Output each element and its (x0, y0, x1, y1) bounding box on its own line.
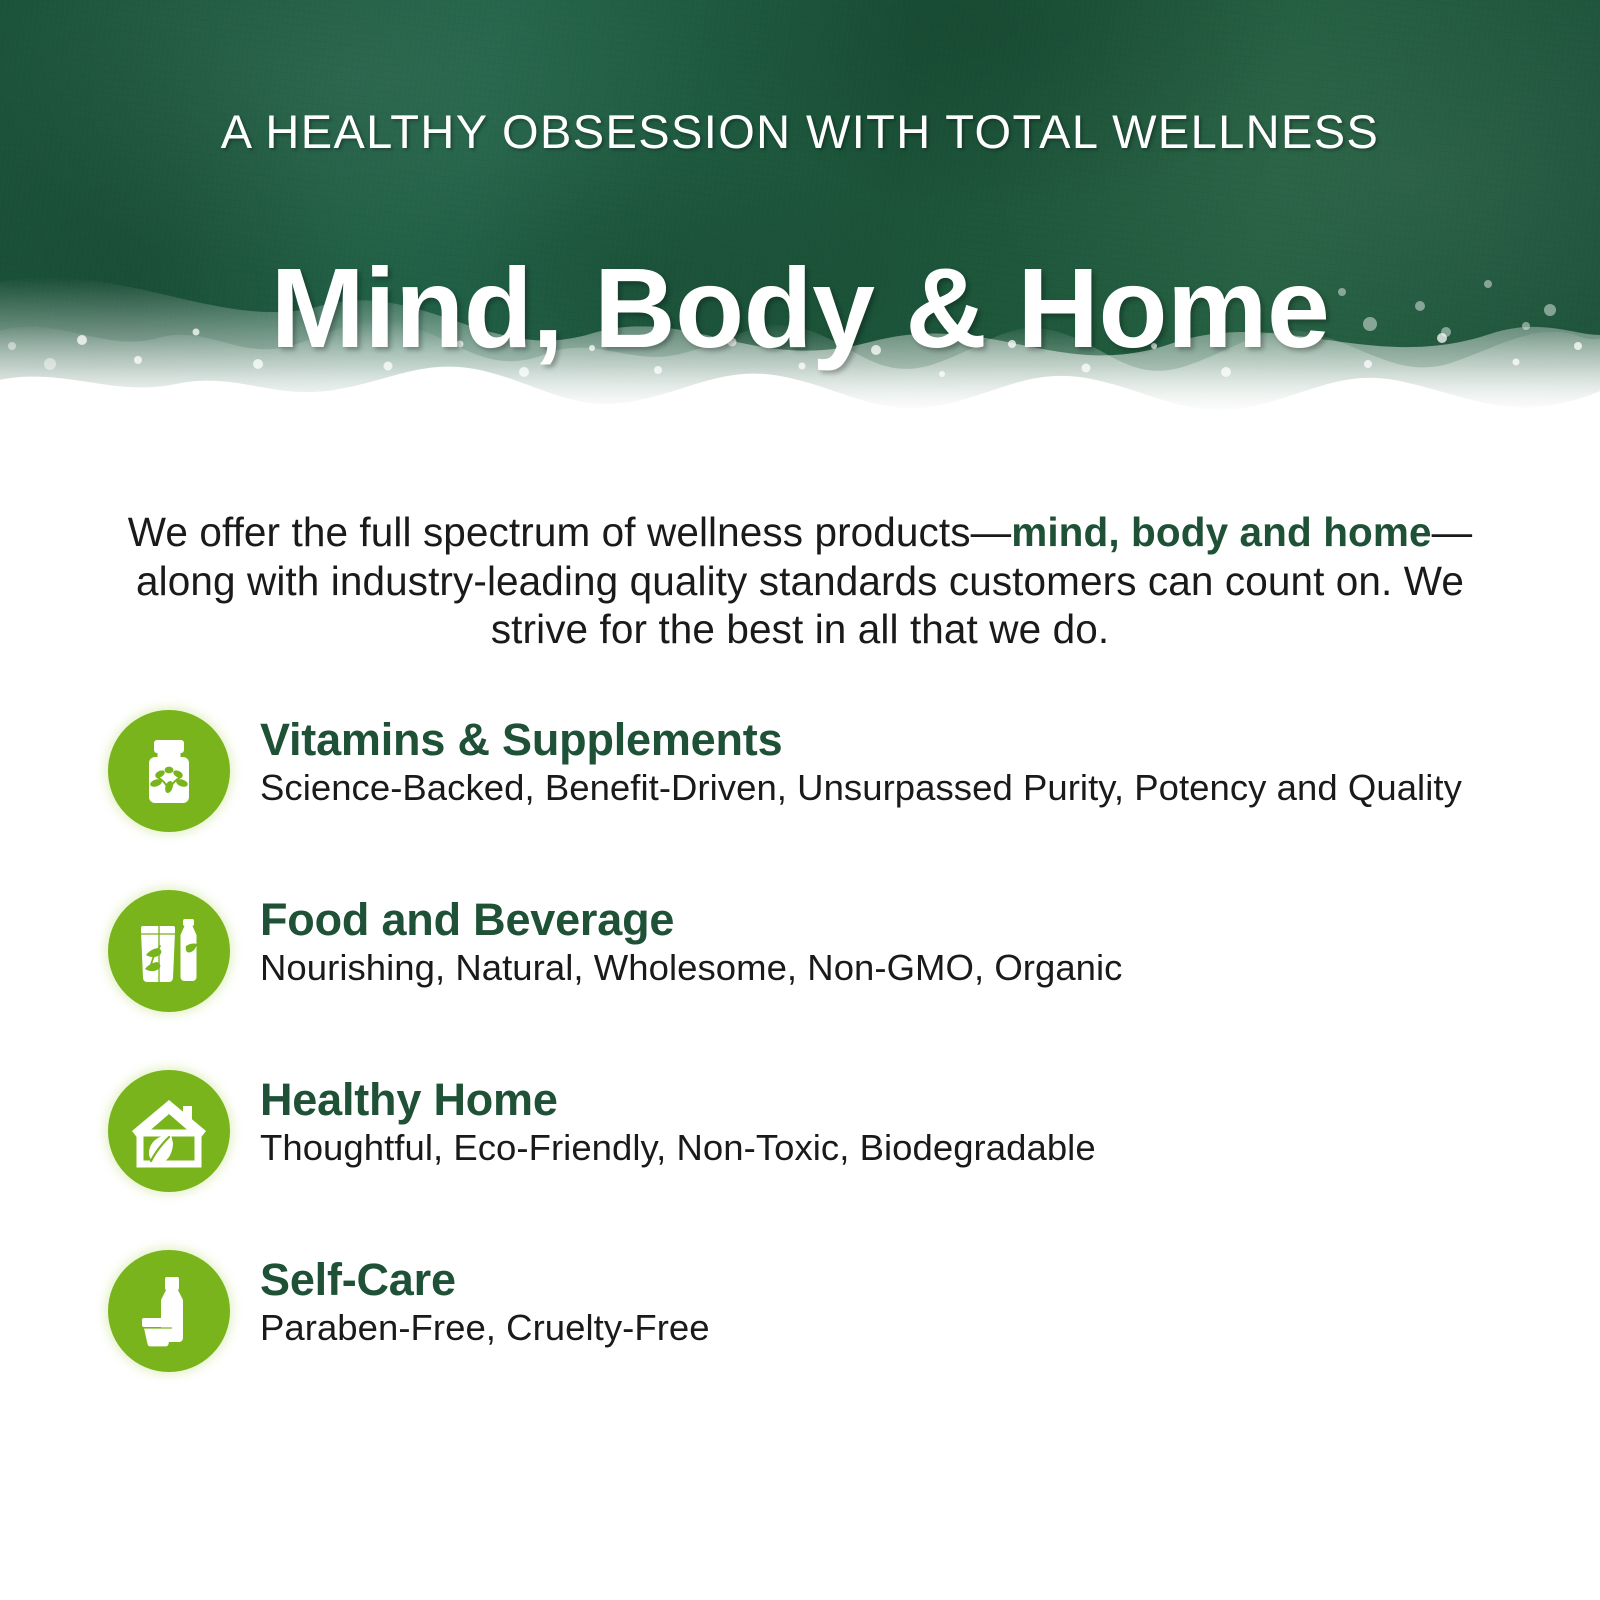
feature-text-block: Self-Care Paraben-Free, Cruelty-Free (260, 1250, 1490, 1351)
intro-accent-phrase: mind, body and home (1011, 509, 1431, 555)
hero-eyebrow: A HEALTHY OBSESSION WITH TOTAL WELLNESS (0, 108, 1600, 155)
list-item: Food and Beverage Nourishing, Natural, W… (0, 890, 1600, 1012)
feature-description: Nourishing, Natural, Wholesome, Non-GMO,… (260, 946, 1490, 991)
feature-list: Vitamins & Supplements Science-Backed, B… (0, 654, 1600, 1372)
feature-title: Self-Care (260, 1256, 1490, 1305)
lotion-bottle-jar-icon (108, 1250, 230, 1372)
hero-banner: A HEALTHY OBSESSION WITH TOTAL WELLNESS … (0, 0, 1600, 440)
feature-description: Thoughtful, Eco-Friendly, Non-Toxic, Bio… (260, 1126, 1490, 1171)
feature-text-block: Vitamins & Supplements Science-Backed, B… (260, 710, 1490, 811)
list-item: Self-Care Paraben-Free, Cruelty-Free (0, 1250, 1600, 1372)
food-pouch-bottle-icon (108, 890, 230, 1012)
feature-text-block: Healthy Home Thoughtful, Eco-Friendly, N… (260, 1070, 1490, 1171)
feature-description: Paraben-Free, Cruelty-Free (260, 1306, 1490, 1351)
main-content: We offer the full spectrum of wellness p… (0, 440, 1600, 1372)
house-leaf-icon (108, 1070, 230, 1192)
intro-text-part-one: We offer the full spectrum of wellness p… (128, 509, 1011, 555)
supplement-jar-icon (108, 710, 230, 832)
page-title: Mind, Body & Home (0, 252, 1600, 365)
feature-title: Food and Beverage (260, 896, 1490, 945)
feature-title: Vitamins & Supplements (260, 716, 1490, 765)
hero-content: A HEALTHY OBSESSION WITH TOTAL WELLNESS … (0, 0, 1600, 440)
intro-paragraph: We offer the full spectrum of wellness p… (0, 440, 1600, 654)
list-item: Healthy Home Thoughtful, Eco-Friendly, N… (0, 1070, 1600, 1192)
feature-title: Healthy Home (260, 1076, 1490, 1125)
feature-text-block: Food and Beverage Nourishing, Natural, W… (260, 890, 1490, 991)
list-item: Vitamins & Supplements Science-Backed, B… (0, 710, 1600, 832)
feature-description: Science-Backed, Benefit-Driven, Unsurpas… (260, 766, 1490, 811)
